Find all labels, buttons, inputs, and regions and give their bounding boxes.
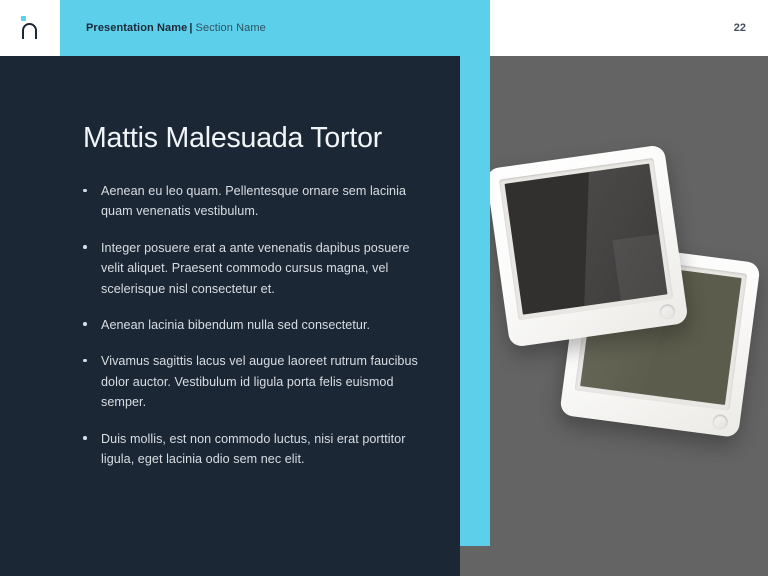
- section-name: Section Name: [196, 22, 266, 34]
- accent-bar: [460, 56, 490, 546]
- logo: [0, 0, 60, 56]
- list-item: Duis mollis, est non commodo luctus, nis…: [78, 429, 426, 470]
- list-item: Aenean eu leo quam. Pellentesque ornare …: [78, 181, 426, 222]
- breadcrumb: Presentation Name | Section Name: [86, 0, 266, 56]
- page-title: Mattis Malesuada Tortor: [83, 122, 433, 156]
- slide-image: [490, 56, 768, 576]
- arch-logo-icon: [15, 13, 45, 43]
- mount-sheen-secondary: [613, 233, 668, 308]
- breadcrumb-separator: |: [189, 22, 192, 34]
- mount-bevel: [499, 158, 673, 320]
- presentation-name: Presentation Name: [86, 22, 187, 34]
- mount-knob-icon: [659, 303, 676, 320]
- list-item: Aenean lacinia bibendum nulla sed consec…: [78, 315, 426, 335]
- list-item: Integer posuere erat a ante venenatis da…: [78, 238, 426, 299]
- logo-arch-shape: [22, 23, 37, 39]
- mount-window: [505, 164, 668, 315]
- mount-knob-icon: [712, 414, 729, 431]
- page-number: 22: [734, 0, 746, 56]
- list-item: Vivamus sagittis lacus vel augue laoreet…: [78, 351, 426, 412]
- photo-slide-mount-front: [490, 144, 689, 347]
- bullet-list: Aenean eu leo quam. Pellentesque ornare …: [78, 181, 426, 485]
- accent-bar-tail: [460, 546, 490, 576]
- logo-dot-icon: [21, 16, 26, 21]
- presentation-slide: Presentation Name | Section Name 22 Matt…: [0, 0, 768, 576]
